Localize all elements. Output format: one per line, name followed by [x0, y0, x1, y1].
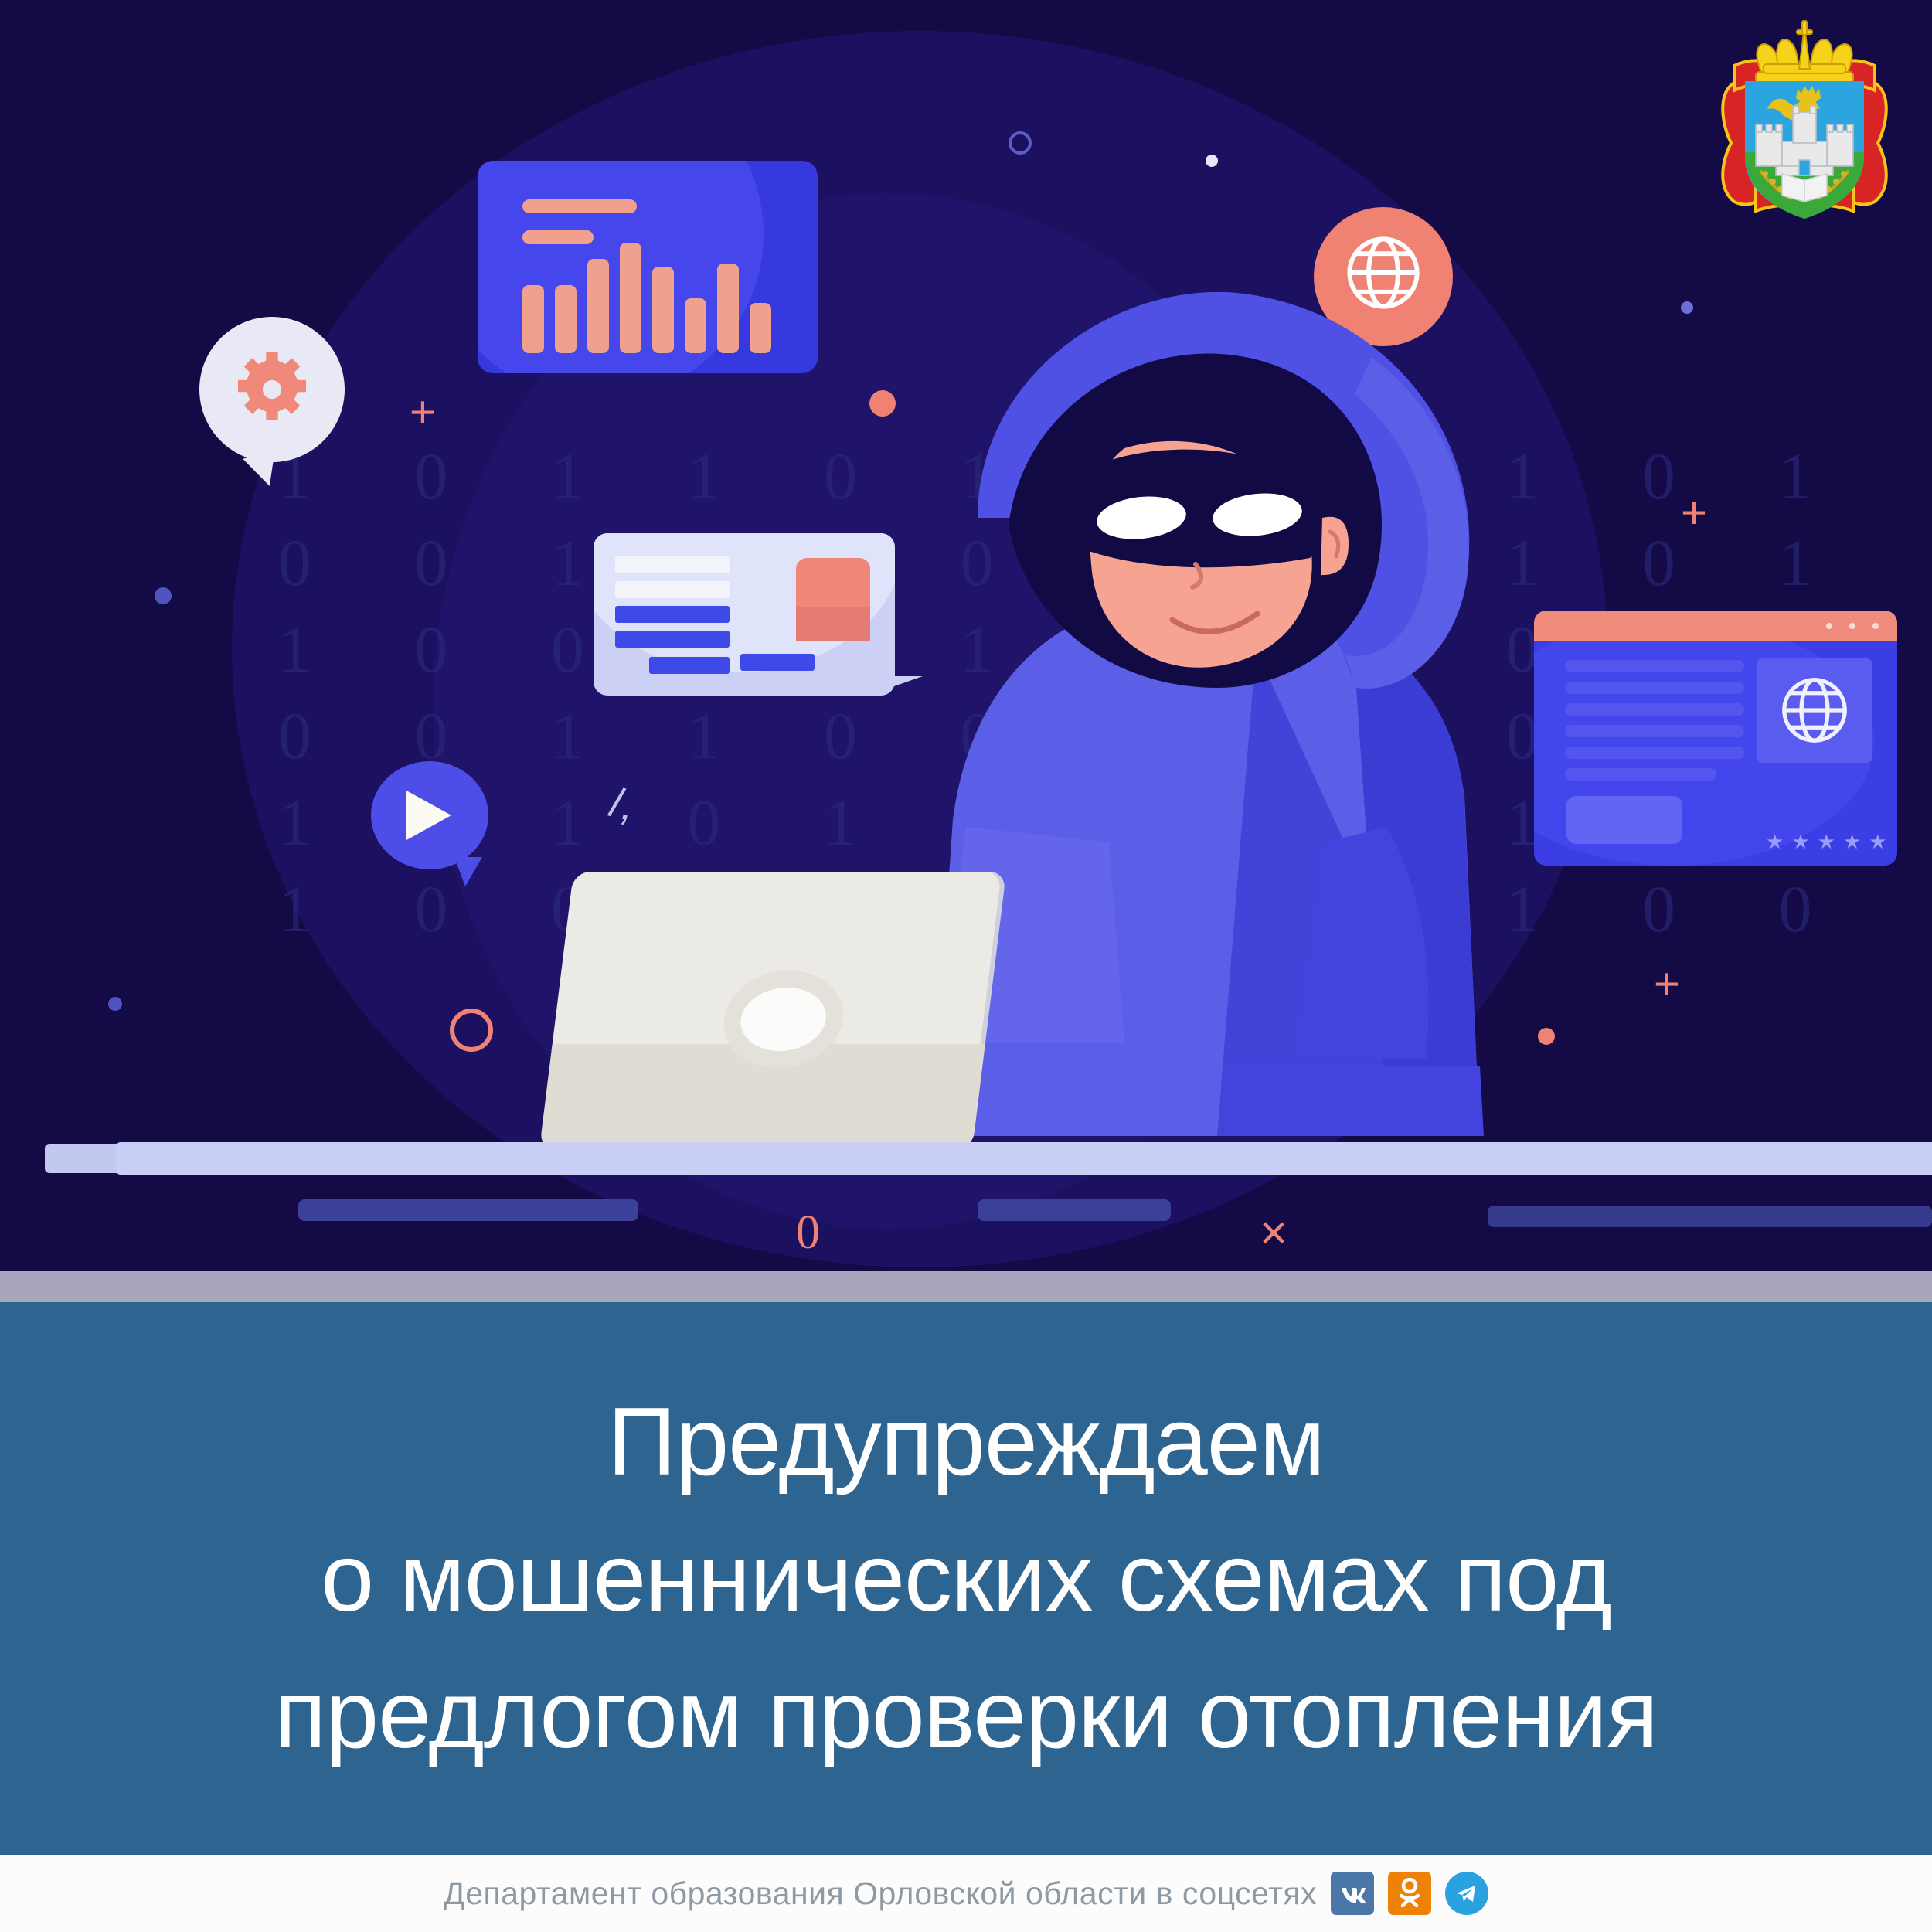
- x-accent: ×: [1260, 1206, 1287, 1260]
- desk-surface: [116, 1142, 1932, 1175]
- dot-accent: [869, 390, 896, 417]
- dot-accent: [1009, 131, 1032, 155]
- ok-glyph: [1396, 1878, 1423, 1909]
- browser-text-line: [1565, 725, 1744, 737]
- plus-accent: +: [1681, 487, 1707, 539]
- chart-bar: [685, 298, 706, 353]
- dot-accent: [155, 587, 172, 604]
- window-dot: [1849, 623, 1855, 629]
- window-dot: [1826, 623, 1832, 629]
- chart-bar: [750, 303, 771, 353]
- coat-of-arms: [1708, 19, 1901, 232]
- headline-band: Предупреждаем о мошеннических схемах под…: [0, 1302, 1932, 1855]
- chart-bar: [587, 259, 609, 353]
- vk-icon[interactable]: [1331, 1872, 1374, 1915]
- lid-shadow: [539, 1044, 985, 1150]
- browser-button[interactable]: [1566, 796, 1682, 844]
- desk-shelf: [1488, 1206, 1932, 1227]
- card-text-line: [649, 657, 730, 674]
- globe-icon: [1774, 669, 1855, 751]
- browser-text-line: [1565, 768, 1716, 781]
- browser-window: ★★★★★: [1534, 611, 1897, 866]
- gear-icon: [230, 347, 315, 432]
- headline-text: Предупреждаем о мошеннических схемах под…: [0, 1302, 1932, 1855]
- chart-title-line: [522, 199, 637, 213]
- circle-outline-accent: [450, 1009, 493, 1052]
- bar-chart-card: [478, 161, 818, 373]
- card-caption-line: [740, 654, 815, 671]
- chart-bar: [717, 264, 739, 353]
- browser-text-line: [1565, 747, 1744, 759]
- desk-shelf: [978, 1199, 1171, 1221]
- chart-bar: [652, 267, 674, 353]
- footer-bar: Департамент образования Орловской област…: [0, 1855, 1932, 1932]
- chart-bar: [620, 243, 641, 353]
- laptop: [510, 872, 1005, 1165]
- browser-globe-panel: [1757, 658, 1872, 763]
- card-text-line: [615, 556, 730, 573]
- chart-bar: [555, 285, 577, 353]
- headline-line-3: предлогом проверки отопления: [274, 1647, 1658, 1783]
- laptop-lid: [539, 872, 1006, 1150]
- card-text-line: [615, 631, 730, 648]
- plus-accent: +: [1654, 958, 1680, 1010]
- ok-icon[interactable]: [1388, 1872, 1431, 1915]
- illustration-area: 1 0 1 1 0 1 1 0 1 1 0 1 0 0 1 0 1 0 0 1 …: [0, 0, 1932, 1271]
- message-card: [594, 533, 895, 696]
- dot-accent: [1681, 301, 1693, 314]
- dot-accent: [1538, 1028, 1555, 1045]
- dot-accent: [1206, 155, 1218, 167]
- vk-glyph: [1337, 1878, 1368, 1909]
- gear-speech-bubble: [199, 317, 345, 462]
- star-icon: ★: [1869, 832, 1886, 852]
- play-speech-bubble: [371, 761, 488, 869]
- browser-text-line: [1565, 703, 1744, 716]
- headline-line-2: о мошеннических схемах под: [321, 1510, 1611, 1646]
- footer-text: Департамент образования Орловской област…: [444, 1876, 1317, 1912]
- divider-strip: [0, 1271, 1932, 1302]
- window-dot: [1872, 623, 1879, 629]
- card-text-line: [615, 606, 730, 623]
- laptop-logo: [737, 988, 830, 1051]
- star-icon: ★: [1818, 832, 1835, 852]
- desk-shelf: [298, 1199, 638, 1221]
- telegram-glyph: [1453, 1879, 1481, 1907]
- chart-bars: [522, 222, 793, 353]
- play-icon: [406, 791, 451, 840]
- browser-text-line: [1565, 682, 1744, 694]
- browser-text-line: [1565, 660, 1744, 672]
- headline-line-1: Предупреждаем: [607, 1374, 1325, 1510]
- star-icon: ★: [1843, 832, 1861, 852]
- star-icon: ★: [1791, 832, 1809, 852]
- telegram-icon[interactable]: [1445, 1872, 1488, 1915]
- dot-accent: [108, 997, 122, 1011]
- browser-titlebar: [1534, 611, 1897, 641]
- browser-rating-stars: ★★★★★: [1766, 832, 1887, 852]
- poster-root: 1 0 1 1 0 1 1 0 1 1 0 1 0 0 1 0 1 0 0 1 …: [0, 0, 1932, 1932]
- zero-accent: 0: [796, 1206, 820, 1260]
- card-text-line: [615, 581, 730, 598]
- card-thumbnail: [796, 558, 870, 641]
- star-icon: ★: [1766, 832, 1784, 852]
- plus-accent: +: [410, 386, 436, 438]
- chart-bar: [522, 285, 544, 353]
